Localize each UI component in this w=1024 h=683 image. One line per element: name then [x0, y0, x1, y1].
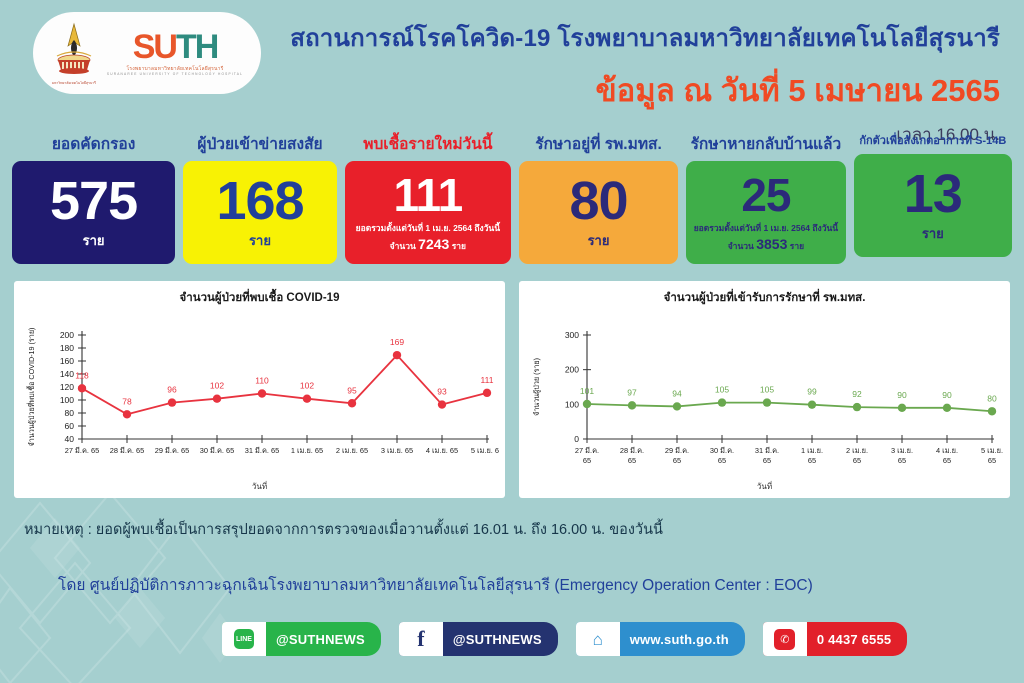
chart-title-admitted: จำนวนผู้ป่วยที่เข้ารับการรักษาที่ รพ.มทส… [525, 289, 1004, 307]
x-tick-label: 65 [718, 456, 726, 465]
social-bar: LINE@SUTHNEWSf@SUTHNEWS⌂www.suth.go.th✆0… [222, 622, 907, 656]
phone-icon: ✆ [763, 622, 807, 656]
x-tick-label: 1 เม.ย. 65 [291, 446, 323, 455]
stat-card-value: 168 [216, 174, 303, 228]
chart-xlabel-cases: วันที่ [20, 480, 499, 493]
byline: โดย ศูนย์ปฏิบัติการภาวะฉุกเฉินโรงพยาบาลม… [58, 572, 813, 597]
y-tick-label: 100 [60, 395, 74, 405]
stat-card-value: 575 [50, 174, 137, 228]
data-point [348, 399, 356, 407]
x-tick-label: 31 มี.ค. [755, 446, 779, 455]
home-icon: ⌂ [576, 622, 620, 656]
chart-panel-cases: จำนวนผู้ป่วยที่พบเชื้อ COVID-19 40608010… [14, 281, 505, 498]
data-label: 99 [807, 387, 817, 397]
phone-glyph: ✆ [774, 629, 795, 650]
data-label: 96 [167, 385, 177, 395]
data-point [583, 400, 591, 408]
y-tick-label: 100 [565, 399, 579, 409]
data-label: 111 [481, 375, 494, 385]
x-tick-label: 4 เม.ย. 65 [426, 446, 458, 455]
stat-card-subtotal: ยอดรวมตั้งแต่วันที่ 1 เม.ย. 2564 ถึงวันน… [356, 221, 500, 235]
data-point [438, 400, 446, 408]
stat-card-box: 80ราย [519, 161, 678, 264]
chart-panel-admitted: จำนวนผู้ป่วยที่เข้ารับการรักษาที่ รพ.มทส… [519, 281, 1010, 498]
x-tick-label: 5 เม.ย. [981, 446, 1003, 455]
stat-cards-row: ยอดคัดกรอง575รายผู้ป่วยเข้าข่ายสงสัย168ร… [12, 131, 1012, 276]
social-chip-label: @SUTHNEWS [443, 632, 558, 647]
logo-wordmark: SUTH [133, 30, 218, 64]
data-point [78, 384, 86, 392]
data-point [628, 401, 636, 409]
stat-card-box: 575ราย [12, 161, 175, 264]
footnote: หมายเหตุ : ยอดผู้พบเชื้อเป็นการสรุปยอดจา… [24, 518, 663, 541]
stat-card-box: 25ยอดรวมตั้งแต่วันที่ 1 เม.ย. 2564 ถึงวั… [686, 161, 845, 264]
x-tick-label: 65 [583, 456, 591, 465]
infographic-page: มหาวิทยาลัยเทคโนโลยีสุรนารี SUTH โรงพยาบ… [0, 0, 1024, 673]
y-tick-label: 300 [565, 330, 579, 340]
x-tick-label: 65 [898, 456, 906, 465]
stat-card-subcount: จำนวน 7243 ราย [390, 236, 466, 253]
x-tick-label: 4 เม.ย. [936, 446, 958, 455]
y-tick-label: 0 [574, 434, 579, 444]
facebook-icon: f [399, 622, 443, 656]
subcount-label: จำนวน [728, 241, 754, 251]
x-tick-label: 65 [988, 456, 996, 465]
x-tick-label: 30 มี.ค. [710, 446, 734, 455]
home-glyph: ⌂ [593, 631, 603, 648]
facebook-glyph: f [417, 628, 424, 650]
y-tick-label: 140 [60, 369, 74, 379]
stat-card-value: 25 [741, 172, 790, 218]
data-label: 102 [210, 381, 224, 391]
data-point [258, 389, 266, 397]
y-tick-label: 200 [565, 365, 579, 375]
social-chip-label: www.suth.go.th [620, 632, 745, 647]
y-tick-label: 160 [60, 356, 74, 366]
stat-card-unit: ราย [922, 223, 944, 244]
emblem-caption: มหาวิทยาลัยเทคโนโลยีสุรนารี [51, 81, 97, 86]
data-label: 105 [715, 385, 729, 395]
y-tick-label: 120 [60, 382, 74, 392]
data-label: 94 [672, 388, 682, 398]
header-titles: สถานการณ์โรคโควิด-19 โรงพยาบาลมหาวิทยาลั… [290, 18, 1000, 148]
stat-card-0: ยอดคัดกรอง575ราย [12, 131, 175, 264]
header: มหาวิทยาลัยเทคโนโลยีสุรนารี SUTH โรงพยาบ… [0, 0, 1024, 130]
chart-plot-admitted: 010020030027 มี.ค.6528 มี.ค.6529 มี.ค.65… [525, 309, 1004, 479]
chart-xlabel-admitted: วันที่ [525, 480, 1004, 493]
stat-card-5: กักตัวเพื่อสังเกตอาการที่ S-14B13ราย [854, 131, 1012, 257]
stat-card-value: 111 [393, 172, 462, 218]
chart-svg-1: 010020030027 มี.ค.6528 มี.ค.6529 มี.ค.65… [525, 309, 1004, 479]
logo-text: SUTH โรงพยาบาลมหาวิทยาลัยเทคโนโลยีสุรนาร… [107, 30, 243, 77]
x-tick-label: 27 มี.ค. 65 [65, 446, 99, 455]
stat-card-label: ผู้ป่วยเข้าข่ายสงสัย [197, 131, 322, 156]
y-tick-label: 180 [60, 343, 74, 353]
data-label: 118 [75, 370, 89, 380]
data-label: 80 [987, 393, 997, 403]
social-chip-line[interactable]: LINE@SUTHNEWS [222, 622, 381, 656]
x-tick-label: 1 เม.ย. [801, 446, 823, 455]
x-tick-label: 30 มี.ค. 65 [200, 446, 234, 455]
data-line [587, 403, 992, 412]
data-label: 97 [627, 387, 637, 397]
subcount-label: จำนวน [390, 241, 416, 251]
x-tick-label: 28 มี.ค. 65 [110, 446, 144, 455]
chart-svg-0: 40608010012014016018020027 มี.ค. 6528 มี… [20, 309, 499, 479]
data-label: 92 [852, 389, 862, 399]
stat-card-value: 13 [904, 167, 962, 221]
x-tick-label: 2 เม.ย. 65 [336, 446, 368, 455]
x-tick-label: 65 [853, 456, 861, 465]
x-tick-label: 29 มี.ค. 65 [155, 446, 189, 455]
x-tick-label: 28 มี.ค. [620, 446, 644, 455]
x-tick-label: 27 มี.ค. [575, 446, 599, 455]
data-label: 110 [255, 376, 269, 386]
data-point [763, 398, 771, 406]
data-label: 78 [122, 396, 132, 406]
line-icon: LINE [222, 622, 266, 656]
social-chip-label: 0 4437 6555 [807, 632, 908, 647]
stat-card-box: 13ราย [854, 154, 1012, 257]
line-glyph: LINE [234, 629, 254, 649]
data-point [303, 395, 311, 403]
subcount-value: 7243 [418, 236, 449, 252]
data-date: ข้อมูล ณ วันที่ 5 เมษายน 2565 [290, 65, 1000, 115]
data-point [898, 404, 906, 412]
x-tick-label: 29 มี.ค. [665, 446, 689, 455]
stat-card-3: รักษาอยู่ที่ รพ.มทส.80ราย [519, 131, 678, 264]
page-title: สถานการณ์โรคโควิด-19 โรงพยาบาลมหาวิทยาลั… [290, 18, 1000, 57]
social-chip-phone[interactable]: ✆0 4437 6555 [763, 622, 908, 656]
stat-card-box: 168ราย [183, 161, 337, 264]
x-tick-label: 3 เม.ย. 65 [381, 446, 413, 455]
stat-card-label: พบเชื้อรายใหม่วันนี้ [363, 131, 492, 156]
y-tick-label: 200 [60, 330, 74, 340]
data-label: 90 [942, 390, 952, 400]
subcount-unit: ราย [452, 241, 466, 251]
x-tick-label: 31 มี.ค. 65 [245, 446, 279, 455]
subcount-value: 3853 [756, 236, 787, 252]
data-point [168, 398, 176, 406]
stat-card-label: รักษาหายกลับบ้านแล้ว [691, 131, 842, 156]
data-point [483, 389, 491, 397]
x-tick-label: 65 [943, 456, 951, 465]
university-emblem-icon: มหาวิทยาลัยเทคโนโลยีสุรนารี [51, 22, 97, 84]
data-label: 93 [437, 387, 447, 397]
stat-card-unit: ราย [588, 230, 610, 251]
data-point [673, 402, 681, 410]
data-point [123, 410, 131, 418]
charts-row: จำนวนผู้ป่วยที่พบเชื้อ COVID-19 40608010… [14, 281, 1010, 498]
stat-card-unit: ราย [249, 230, 271, 251]
stat-card-label: ยอดคัดกรอง [52, 131, 135, 156]
social-chip-home[interactable]: ⌂www.suth.go.th [576, 622, 745, 656]
data-label: 102 [300, 381, 314, 391]
data-label: 101 [580, 386, 594, 396]
chart-title-cases: จำนวนผู้ป่วยที่พบเชื้อ COVID-19 [20, 289, 499, 307]
stat-card-unit: ราย [83, 230, 105, 251]
data-point [718, 398, 726, 406]
logo: มหาวิทยาลัยเทคโนโลยีสุรนารี SUTH โรงพยาบ… [33, 12, 261, 94]
y-axis-label: จำนวนผู้ป่วยที่พบเชื้อ COVID-19 (ราย) [26, 328, 36, 447]
chart-plot-cases: 40608010012014016018020027 มี.ค. 6528 มี… [20, 309, 499, 479]
y-axis-label: จำนวนผู้ป่วย (ราย) [532, 358, 541, 416]
data-point [213, 395, 221, 403]
data-point [943, 404, 951, 412]
subcount-unit: ราย [790, 241, 804, 251]
stat-card-box: 111ยอดรวมตั้งแต่วันที่ 1 เม.ย. 2564 ถึงว… [345, 161, 511, 264]
data-point [853, 403, 861, 411]
data-point [808, 400, 816, 408]
data-point [988, 407, 996, 415]
stat-card-subtotal: ยอดรวมตั้งแต่วันที่ 1 เม.ย. 2564 ถึงวันน… [694, 221, 838, 235]
social-chip-facebook[interactable]: f@SUTHNEWS [399, 622, 558, 656]
data-label: 169 [390, 337, 404, 347]
social-chip-label: @SUTHNEWS [266, 632, 381, 647]
stat-card-4: รักษาหายกลับบ้านแล้ว25ยอดรวมตั้งแต่วันที… [686, 131, 845, 264]
stat-card-value: 80 [569, 174, 627, 228]
stat-card-1: ผู้ป่วยเข้าข่ายสงสัย168ราย [183, 131, 337, 264]
x-tick-label: 65 [673, 456, 681, 465]
stat-card-2: พบเชื้อรายใหม่วันนี้111ยอดรวมตั้งแต่วันท… [345, 131, 511, 264]
x-tick-label: 5 เม.ย. 65 [471, 446, 499, 455]
y-tick-label: 80 [65, 408, 75, 418]
logo-sub-english: SURANAREE UNIVERSITY OF TECHNOLOGY HOSPI… [107, 73, 243, 76]
data-label: 90 [897, 390, 907, 400]
x-tick-label: 65 [808, 456, 816, 465]
x-tick-label: 65 [763, 456, 771, 465]
stat-card-label: กักตัวเพื่อสังเกตอาการที่ S-14B [859, 131, 1006, 149]
y-tick-label: 40 [65, 434, 75, 444]
y-tick-label: 60 [65, 421, 75, 431]
stat-card-subcount: จำนวน 3853 ราย [728, 236, 804, 253]
stat-card-label: รักษาอยู่ที่ รพ.มทส. [535, 131, 662, 156]
x-tick-label: 2 เม.ย. [846, 446, 868, 455]
data-label: 95 [347, 385, 357, 395]
data-label: 105 [760, 385, 774, 395]
x-tick-label: 65 [628, 456, 636, 465]
data-line [82, 355, 487, 414]
logo-sub-thai: โรงพยาบาลมหาวิทยาลัยเทคโนโลยีสุรนารี [126, 67, 223, 72]
data-point [393, 351, 401, 359]
x-tick-label: 3 เม.ย. [891, 446, 913, 455]
